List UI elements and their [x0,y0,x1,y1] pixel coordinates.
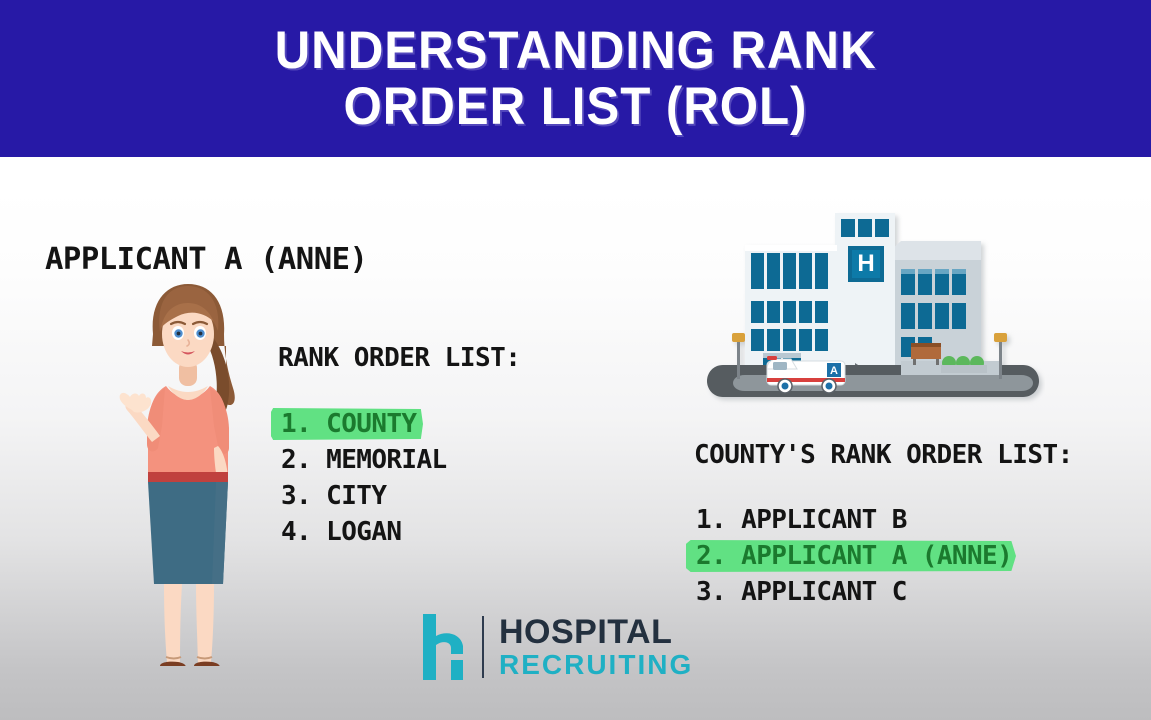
rank-item-text: 1. COUNTY [277,407,420,441]
header-title-line-1: UNDERSTANDING RANK [275,23,877,79]
logo-line-recruiting: RECRUITING [499,650,693,680]
applicant-rol-heading: RANK ORDER LIST: [278,343,520,373]
rank-item-text: 3. APPLICANT C [692,575,911,609]
applicant-rank-order-list: 1. COUNTY 2. MEMORIAL 3. CITY 4. LOGAN [277,406,577,550]
rank-list-item: 3. CITY [277,478,577,514]
rank-list-item: 3. APPLICANT C [692,574,1092,610]
hospital-building-illustration: H [705,193,1045,408]
rank-list-item: 1. COUNTY [277,406,577,442]
rank-list-item: 2. MEMORIAL [277,442,577,478]
rank-item-text: 4. LOGAN [277,515,405,549]
logo-h-mark-icon [421,614,469,680]
slide-header: UNDERSTANDING RANK ORDER LIST (ROL) [0,0,1151,157]
rank-item-text: 3. CITY [277,479,390,513]
logo-wordmark: HOSPITAL RECRUITING [499,614,693,680]
hospital-recruiting-logo: HOSPITAL RECRUITING [421,612,691,684]
rank-item-text: 1. APPLICANT B [692,503,911,537]
hospital-h-sign-letter: H [857,250,874,277]
logo-divider [482,616,484,678]
slide-canvas: UNDERSTANDING RANK ORDER LIST (ROL) APPL… [0,0,1151,720]
applicant-title: APPLICANT A (ANNE) [45,242,367,277]
rank-list-item: 1. APPLICANT B [692,502,1092,538]
rank-item-text: 2. MEMORIAL [277,443,451,477]
header-title-line-2: ORDER LIST (ROL) [344,79,808,135]
rank-list-item: 4. LOGAN [277,514,577,550]
program-rank-order-list: 1. APPLICANT B 2. APPLICANT A (ANNE) 3. … [692,502,1092,610]
logo-line-hospital: HOSPITAL [499,614,693,650]
applicant-woman-illustration [108,276,268,666]
program-rol-heading: COUNTY'S RANK ORDER LIST: [694,440,1073,470]
ambulance-letter: A [830,365,838,377]
rank-list-item: 2. APPLICANT A (ANNE) [692,538,1092,574]
rank-item-text: 2. APPLICANT A (ANNE) [692,539,1016,573]
